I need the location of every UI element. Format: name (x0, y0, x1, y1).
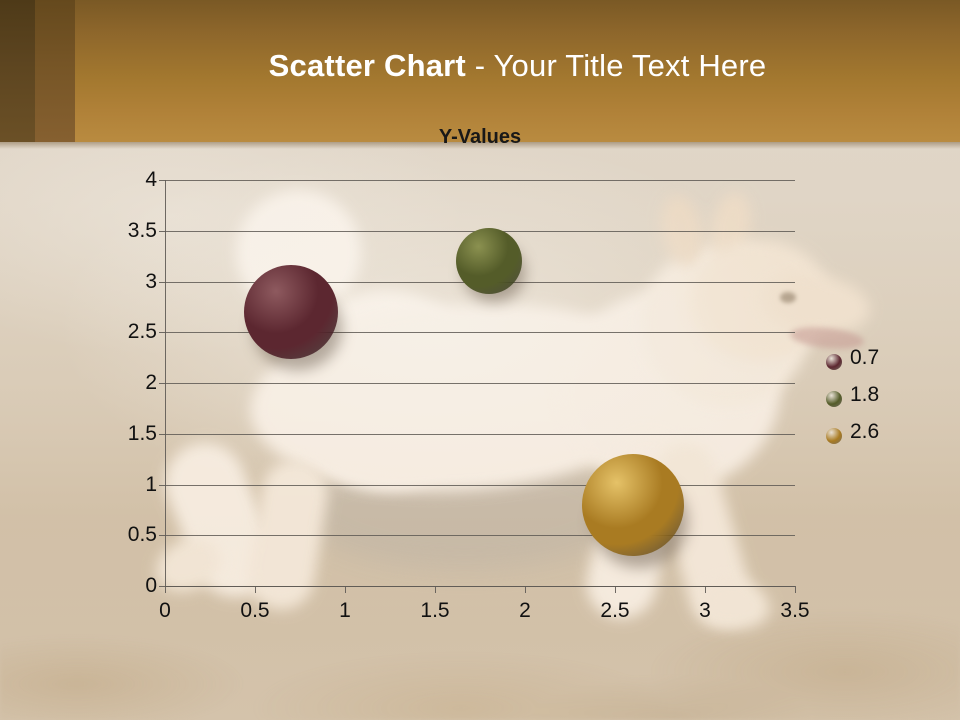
y-axis-tick-label: 3.5 (97, 220, 157, 241)
bubble-sphere (244, 265, 338, 359)
data-bubble[interactable] (582, 454, 684, 556)
x-axis-tick-label: 2 (495, 600, 555, 621)
x-axis-tick (525, 586, 526, 593)
page-title: Scatter Chart - Your Title Text Here (75, 48, 960, 84)
y-axis-tick (159, 434, 165, 435)
x-axis-tick-label: 0 (135, 600, 195, 621)
y-axis-tick (159, 383, 165, 384)
x-axis-tick-label: 3.5 (765, 600, 825, 621)
y-axis-tick-label: 2.5 (97, 321, 157, 342)
x-axis-tick (345, 586, 346, 593)
plot-area: 00.511.522.533.5400.511.522.533.5 (165, 180, 795, 586)
x-axis-tick (795, 586, 796, 593)
y-axis-tick-label: 4 (97, 169, 157, 190)
gridline-horizontal (165, 180, 795, 181)
y-axis-tick-label: 3 (97, 271, 157, 292)
legend-marker-icon (826, 391, 842, 407)
chart-title: Y-Values (0, 126, 960, 149)
y-axis-tick-label: 0 (97, 575, 157, 596)
legend-label: 0.7 (850, 346, 879, 370)
slide-canvas: Scatter Chart - Your Title Text Here Y-V… (0, 0, 960, 720)
header-stripe-mid (35, 0, 75, 142)
gridline-horizontal (165, 586, 795, 587)
y-axis-tick (159, 231, 165, 232)
y-axis-tick-label: 2 (97, 372, 157, 393)
page-title-bold: Scatter Chart (269, 48, 466, 83)
y-axis-tick-label: 0.5 (97, 524, 157, 545)
header-stripe-dark (0, 0, 35, 142)
data-bubble[interactable] (456, 228, 522, 294)
x-axis-tick-label: 2.5 (585, 600, 645, 621)
legend-marker-icon (826, 354, 842, 370)
bubble-sphere (456, 228, 522, 294)
gridline-horizontal (165, 535, 795, 536)
legend-label: 1.8 (850, 383, 879, 407)
x-axis-tick-label: 1.5 (405, 600, 465, 621)
legend-label: 2.6 (850, 420, 879, 444)
data-bubble[interactable] (244, 265, 338, 359)
x-axis-tick-label: 1 (315, 600, 375, 621)
x-axis-tick-label: 0.5 (225, 600, 285, 621)
y-axis-tick (159, 485, 165, 486)
x-axis-tick (435, 586, 436, 593)
x-axis-tick (615, 586, 616, 593)
gridline-horizontal (165, 485, 795, 486)
y-axis-tick (159, 332, 165, 333)
bubble-sphere (582, 454, 684, 556)
page-title-rest: - Your Title Text Here (466, 48, 766, 83)
x-axis-tick (255, 586, 256, 593)
gridline-horizontal (165, 434, 795, 435)
y-axis-tick-label: 1 (97, 474, 157, 495)
y-axis-tick (159, 282, 165, 283)
y-axis-tick (159, 180, 165, 181)
x-axis-tick-label: 3 (675, 600, 735, 621)
x-axis-tick (165, 586, 166, 593)
gridline-horizontal (165, 383, 795, 384)
y-axis-tick (159, 535, 165, 536)
legend-marker-icon (826, 428, 842, 444)
y-axis-tick-label: 1.5 (97, 423, 157, 444)
x-axis-tick (705, 586, 706, 593)
